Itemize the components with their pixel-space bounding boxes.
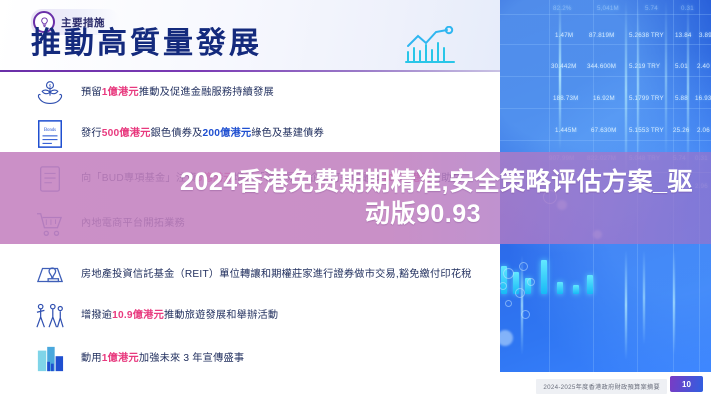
list-item: Bonds 發行500億港元銀色債券及200億港元綠色及基建債券 bbox=[0, 117, 500, 157]
list-item-text: 動用1億港元加強未來 3 年宣傳盛事 bbox=[81, 342, 244, 366]
data-cell: 2.40 bbox=[697, 63, 710, 70]
header-divider bbox=[0, 70, 500, 72]
data-cell: 16.93 bbox=[695, 95, 711, 102]
data-cell: 2.06 bbox=[697, 127, 710, 134]
watermark-line-2: 动版90.93 bbox=[365, 198, 481, 230]
watermark-line-1: 2024香港免费期期精准,安全策略评估方案_驱 bbox=[180, 166, 693, 198]
data-cell: 82.2% bbox=[553, 5, 572, 12]
list-item: 房地產投資信託基金（REIT）單位轉讓和期權莊家進行證券做市交易,豁免繳付印花稅 bbox=[0, 258, 500, 294]
data-cell: 16.92M bbox=[593, 95, 615, 102]
page-number: 10 bbox=[670, 376, 703, 392]
city-buildings-icon bbox=[31, 342, 69, 376]
svg-text:Bonds: Bonds bbox=[44, 128, 56, 133]
data-cell: 5.219 TRY bbox=[629, 63, 660, 70]
slide-header: 主要措施 推動高質量發展 bbox=[0, 0, 500, 72]
svg-text:$: $ bbox=[49, 83, 52, 88]
stamp-duty-icon bbox=[31, 258, 69, 292]
data-cell: 188.73M bbox=[553, 95, 578, 102]
data-cell: 1.47M bbox=[555, 32, 573, 39]
page-title: 推動高質量發展 bbox=[31, 26, 262, 62]
data-cell: 30.442M bbox=[551, 63, 576, 70]
data-cell: 3.89 bbox=[699, 32, 711, 39]
tourism-people-icon bbox=[31, 299, 69, 333]
data-cell: 5,041M bbox=[597, 5, 619, 12]
data-cell: 5.74 bbox=[645, 5, 658, 12]
bond-certificate-icon: Bonds bbox=[31, 117, 69, 151]
list-item-text: 增撥逾10.9億港元推動旅遊發展和舉辦活動 bbox=[81, 299, 278, 323]
data-cell: 5.1799 TRY bbox=[629, 95, 664, 102]
list-item-text: 房地產投資信託基金（REIT）單位轉讓和期權莊家進行證券做市交易,豁免繳付印花稅 bbox=[81, 258, 472, 282]
growth-chart-icon bbox=[404, 26, 456, 71]
list-item-text: 發行500億港元銀色債券及200億港元綠色及基建債券 bbox=[81, 117, 324, 141]
data-cell: 5.88 bbox=[675, 95, 688, 102]
list-item: 增撥逾10.9億港元推動旅遊發展和舉辦活動 bbox=[0, 299, 500, 337]
footer-label: 2024-2025年度香港政府財政預算案摘要 bbox=[536, 379, 667, 394]
slide-canvas: 82.2% 5,041M 5.74 0.31 1.47M 87.819M 5.2… bbox=[0, 0, 711, 400]
list-item: $ 預留1億港元推動及促進金融服務持續發展 bbox=[0, 76, 500, 112]
data-cell: 5.01 bbox=[675, 63, 688, 70]
watermark-text: 2024香港免费期期精准,安全策略评估方案_驱 动版90.93 bbox=[0, 152, 711, 244]
data-cell: 344.600M bbox=[587, 63, 616, 70]
data-cell: 5.2638 TRY bbox=[629, 32, 664, 39]
data-cell: 87.819M bbox=[589, 32, 614, 39]
list-item-text: 預留1億港元推動及促進金融服務持續發展 bbox=[81, 76, 274, 100]
data-cell: 13.84 bbox=[675, 32, 691, 39]
data-cell: 5.1553 TRY bbox=[629, 127, 664, 134]
data-cell: 67.630M bbox=[591, 127, 616, 134]
hands-plant-money-icon: $ bbox=[31, 76, 69, 110]
